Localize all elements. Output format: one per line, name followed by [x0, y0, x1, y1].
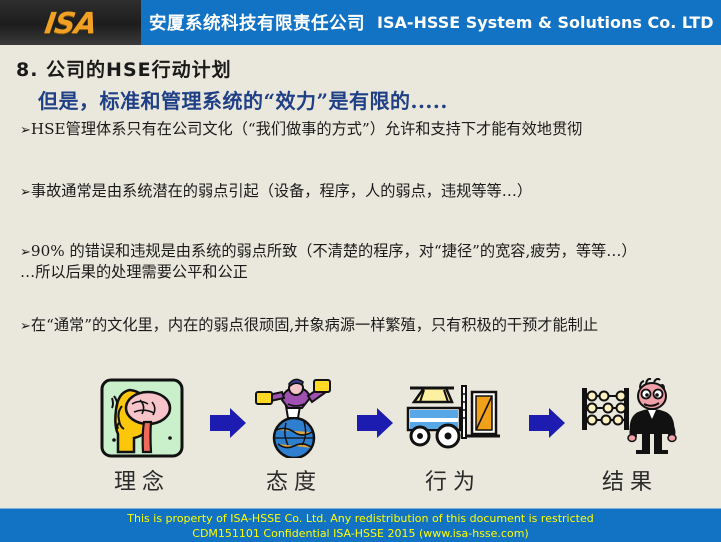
isa-logo-text: ISA [43, 6, 99, 40]
right-arrow-icon [355, 406, 395, 440]
bullet-text: 事故通常是由系统潜在的弱点引起（设备，程序，人的弱点，违规等等…） [31, 182, 532, 200]
bullet-marker-icon: ➢ [20, 123, 31, 138]
person-on-globe-icon [252, 378, 336, 458]
page-title: 8. 公司的HSE行动计划 [16, 55, 232, 82]
bullet-text: 在“通常”的文化里，内在的弱点很顽固,并象病源一样繁殖，只有积极的干预才能制止 [31, 316, 598, 334]
flow-step-1: 理念 [96, 378, 188, 496]
bullet-text: 90% 的错误和违规是由系统的弱点所致（不清楚的程序，对“捷径”的宽容,疲劳，等… [31, 242, 637, 260]
abacus-businessman-icon [572, 378, 688, 458]
header-title-group: 安厦系统科技有限责任公司 ISA-HSSE System & Solutions… [141, 0, 721, 45]
flow-step-label: 行为 [398, 464, 508, 496]
bullet-marker-icon: ➢ [20, 245, 31, 260]
isa-logo: ISA [0, 0, 141, 45]
bullet-subtext: …所以后果的处理需要公平和公正 [20, 262, 696, 283]
bullet-text: HSE管理体系只有在公司文化（“我们做事的方式”）允许和支持下才能有效地贯彻 [31, 120, 582, 138]
company-name-en: ISA-HSSE System & Solutions Co. LTD [377, 13, 714, 32]
bullet-marker-icon: ➢ [20, 185, 31, 200]
flow-step-2: 态度 [248, 378, 340, 496]
list-item: ➢在“通常”的文化里，内在的弱点很顽固,并象病源一样繁殖，只有积极的干预才能制止 [20, 315, 696, 336]
list-item: ➢90% 的错误和违规是由系统的弱点所致（不清楚的程序，对“捷径”的宽容,疲劳，… [20, 241, 696, 283]
slide-body: 8. 公司的HSE行动计划 但是，标准和管理系统的“效力”是有限的..... ➢… [0, 45, 721, 508]
flow-step-3: 行为 [398, 378, 508, 496]
bullet-marker-icon: ➢ [20, 319, 31, 334]
flow-step-label: 结果 [570, 464, 690, 496]
presentation-slide: ISA 安厦系统科技有限责任公司 ISA-HSSE System & Solut… [0, 0, 721, 542]
right-arrow-icon [527, 406, 567, 440]
forklift-icon [400, 378, 506, 458]
flow-step-label: 态度 [248, 464, 340, 496]
right-arrow-icon [208, 406, 248, 440]
company-name-cn: 安厦系统科技有限责任公司 [149, 10, 365, 35]
flow-step-label: 理念 [96, 464, 188, 496]
head-brain-icon [100, 378, 184, 458]
page-subtitle: 但是，标准和管理系统的“效力”是有限的..... [38, 85, 448, 114]
list-item: ➢事故通常是由系统潜在的弱点引起（设备，程序，人的弱点，违规等等…） [20, 181, 692, 202]
flow-step-4: 结果 [570, 378, 690, 496]
slide-header: ISA 安厦系统科技有限责任公司 ISA-HSSE System & Solut… [0, 0, 721, 45]
concept-flow-diagram: 理念 [0, 378, 721, 508]
footer-line-1: This is property of ISA-HSSE Co. Ltd. An… [0, 511, 721, 526]
slide-footer: This is property of ISA-HSSE Co. Ltd. An… [0, 508, 721, 542]
footer-line-2: CDM151101 Confidential ISA-HSSE 2015 (ww… [0, 526, 721, 541]
list-item: ➢HSE管理体系只有在公司文化（“我们做事的方式”）允许和支持下才能有效地贯彻 [20, 119, 692, 140]
